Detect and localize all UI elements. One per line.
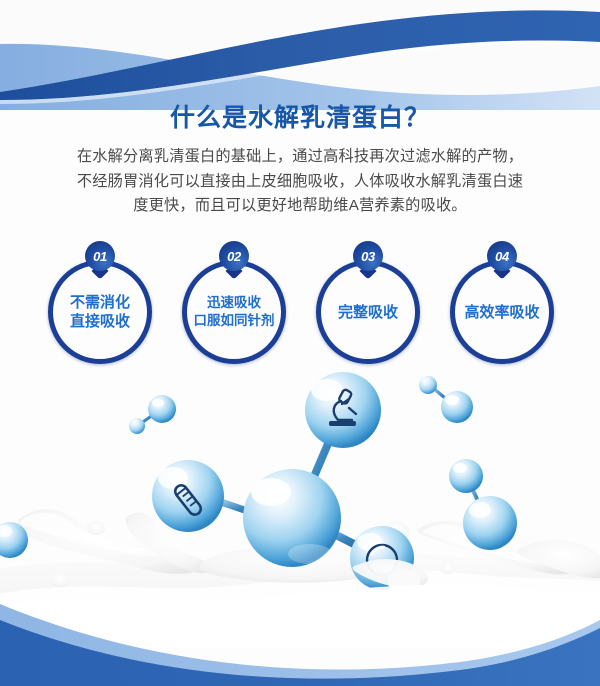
feature-number: 04 [487, 241, 517, 271]
molecule-sphere-medium [463, 496, 517, 550]
promo-page: 什么是水解乳清蛋白？ 在水解分离乳清蛋白的基础上，通过高科技再次过滤水解的产物，… [0, 0, 600, 686]
intro-line-1: 在水解分离乳清蛋白的基础上，通过高科技再次过滤水解的产物， [38, 145, 562, 170]
feature-circle-04[interactable]: 04 高效率吸收 [450, 260, 554, 364]
feature-number: 01 [85, 241, 115, 271]
feature-number: 03 [353, 241, 383, 271]
milk-droplet [50, 573, 70, 587]
feature-label-line-2: 直接吸收 [70, 312, 130, 331]
feature-badge-01: 01 [85, 241, 115, 271]
feature-label-line-1: 高效率吸收 [464, 303, 539, 322]
feature-label-line-1: 不需消化 [70, 293, 130, 312]
molecule-sphere-small [441, 391, 473, 423]
intro-line-2: 不经肠胃消化可以直接由上皮细胞吸收，人体吸收水解乳清蛋白速 [38, 170, 562, 195]
molecule-sphere-small [129, 418, 145, 434]
molecule-sphere-small [148, 395, 176, 423]
feature-circle-02[interactable]: 02 迅速吸收 口服如同针剂 [182, 260, 286, 364]
feature-circle-01[interactable]: 01 不需消化 直接吸收 [48, 260, 152, 364]
page-title: 什么是水解乳清蛋白？ [0, 98, 600, 134]
feature-number: 02 [219, 241, 249, 271]
milk-droplet [441, 562, 455, 574]
feature-badge-02: 02 [219, 241, 249, 271]
feature-label-line-1: 完整吸收 [338, 303, 398, 322]
molecule-sphere-small [449, 459, 483, 493]
molecule-sphere-small [419, 376, 437, 394]
feature-badge-04: 04 [487, 241, 517, 271]
feature-label-line-2: 口服如同针剂 [194, 312, 275, 330]
feature-circle-list: 01 不需消化 直接吸收 02 迅速吸收 口服如同针剂 [0, 238, 600, 368]
feature-label-line-1: 迅速吸收 [207, 294, 261, 312]
footer-wave-decoration [0, 586, 600, 686]
intro-line-3: 度更快，而且可以更好地帮助维A营养素的吸收。 [38, 194, 562, 219]
feature-circle-03[interactable]: 03 完整吸收 [316, 260, 420, 364]
feature-badge-03: 03 [353, 241, 383, 271]
intro-paragraph: 在水解分离乳清蛋白的基础上，通过高科技再次过滤水解的产物， 不经肠胃消化可以直接… [38, 145, 562, 219]
header-wave-decoration [0, 0, 600, 110]
milk-droplet [87, 521, 105, 535]
